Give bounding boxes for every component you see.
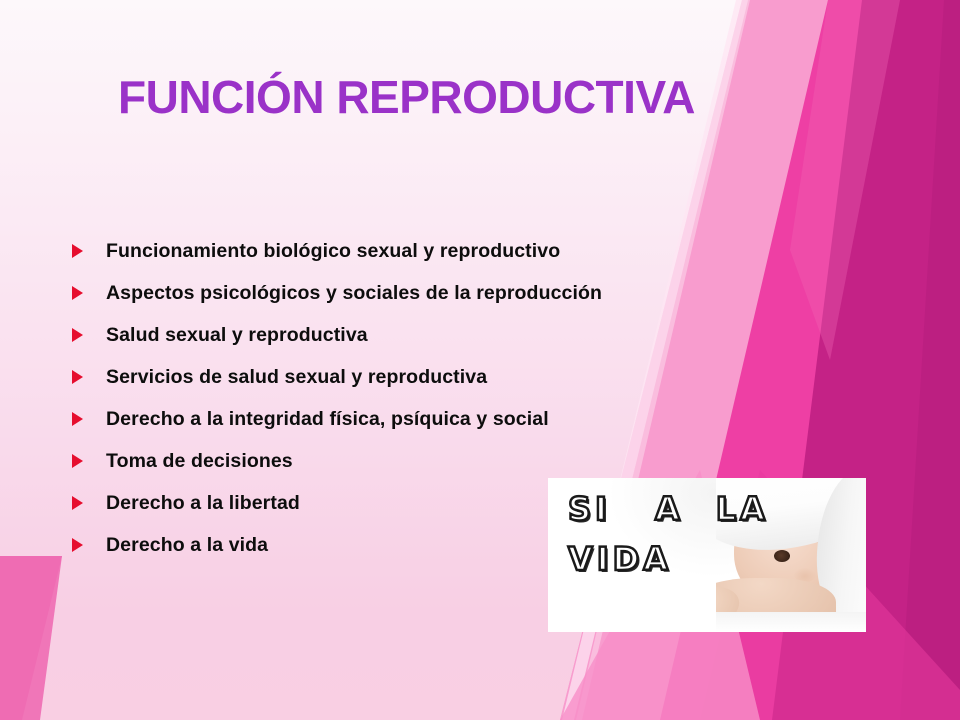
triangle-bullet-icon bbox=[70, 454, 84, 468]
triangle-bullet-icon bbox=[70, 370, 84, 384]
list-item-label: Aspectos psicológicos y sociales de la r… bbox=[106, 282, 602, 305]
list-item-label: Funcionamiento biológico sexual y reprod… bbox=[106, 240, 560, 263]
caption-word-si: SI bbox=[568, 490, 611, 528]
picture-caption-line-2: VIDA bbox=[568, 540, 672, 578]
list-item: Salud sexual y reproductiva bbox=[70, 314, 710, 356]
caption-word-la: LA bbox=[716, 490, 769, 528]
list-item: Derecho a la integridad física, psíquica… bbox=[70, 398, 710, 440]
baby-eye-left bbox=[774, 550, 790, 562]
baby-photo: SIALA VIDA bbox=[548, 478, 866, 632]
triangle-bullet-icon bbox=[70, 328, 84, 342]
triangle-bullet-icon bbox=[70, 538, 84, 552]
list-item-label: Servicios de salud sexual y reproductiva bbox=[106, 366, 487, 389]
list-item: Aspectos psicológicos y sociales de la r… bbox=[70, 272, 710, 314]
picture-caption-line-1: SIALA bbox=[568, 490, 769, 528]
list-item: Funcionamiento biológico sexual y reprod… bbox=[70, 230, 710, 272]
list-item: Toma de decisiones bbox=[70, 440, 710, 482]
list-item-label: Derecho a la libertad bbox=[106, 492, 300, 515]
list-item-label: Derecho a la integridad física, psíquica… bbox=[106, 408, 549, 431]
list-item-label: Toma de decisiones bbox=[106, 450, 293, 473]
caption-word-a: A bbox=[655, 490, 684, 528]
list-item-label: Salud sexual y reproductiva bbox=[106, 324, 368, 347]
presentation-slide: FUNCIÓN REPRODUCTIVA Funcionamiento biol… bbox=[0, 0, 960, 720]
list-item: Servicios de salud sexual y reproductiva bbox=[70, 356, 710, 398]
triangle-bullet-icon bbox=[70, 496, 84, 510]
page-title: FUNCIÓN REPRODUCTIVA bbox=[118, 70, 718, 124]
towel-bottom bbox=[716, 612, 866, 632]
list-item-label: Derecho a la vida bbox=[106, 534, 268, 557]
triangle-bullet-icon bbox=[70, 286, 84, 300]
triangle-bullet-icon bbox=[70, 244, 84, 258]
triangle-bullet-icon bbox=[70, 412, 84, 426]
